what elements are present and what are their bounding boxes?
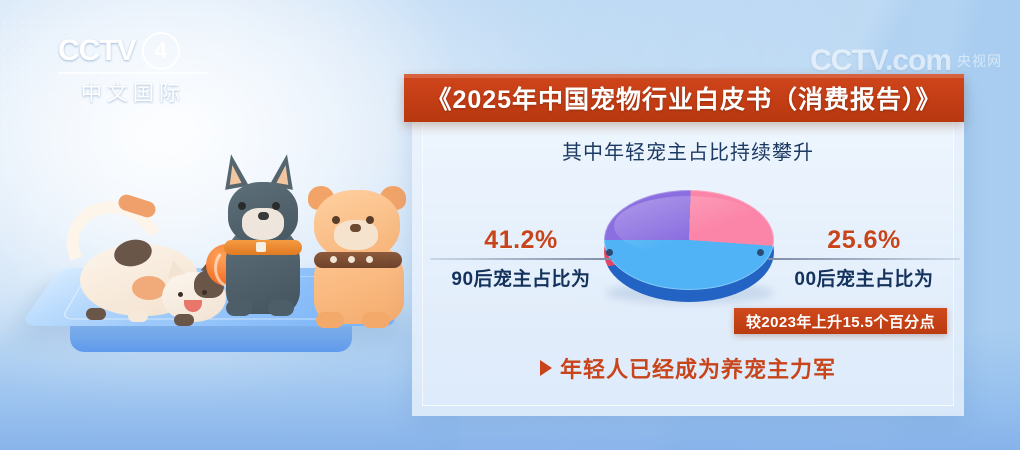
tan-dog-eye-right: [366, 216, 374, 224]
callout-left: 41.2% 90后宠主占比为: [430, 226, 612, 291]
tan-dog-collar-stud-2: [348, 256, 355, 263]
cat-eye-left: [178, 292, 183, 297]
triangle-right-icon: [540, 360, 552, 376]
grey-dog-paw-right: [268, 300, 294, 316]
leader-dot-right: [757, 249, 764, 256]
pie-top-face: [604, 190, 774, 290]
tan-dog-paw-right: [362, 312, 390, 328]
pie-chart: [604, 186, 776, 314]
callout-left-value: 41.2%: [430, 226, 612, 255]
tan-dog-eye-left: [332, 216, 340, 224]
logo-subtitle: 中文国际: [58, 77, 208, 107]
grey-dog-illustration: [210, 154, 314, 322]
logo-cctv-text: CCTV: [58, 34, 136, 68]
cat-paw-rear: [86, 308, 106, 320]
callout-right-leader-line: [768, 258, 960, 260]
grey-dog-collar-tag: [256, 242, 266, 252]
page-title: 《2025年中国宠物行业白皮书（消费报告）》: [426, 80, 941, 116]
callout-right: 25.6% 00后宠主占比为: [768, 226, 960, 291]
logo-divider: [58, 72, 208, 74]
cctv4-logo: CCTV 4 中文国际: [58, 32, 208, 102]
logo-channel-number: 4: [142, 32, 180, 70]
callout-left-label: 90后宠主占比为: [430, 264, 612, 291]
cat-side-patch: [132, 276, 166, 300]
pet-illustration: [40, 150, 390, 380]
grey-dog-eye-left: [238, 202, 246, 210]
tan-dog-collar-stud-1: [330, 256, 337, 263]
status-badge: 较2023年上升15.5个百分点: [734, 308, 947, 334]
grey-dog-paw-left: [226, 300, 252, 316]
footer-text: 年轻人已经成为养宠主力军: [560, 352, 836, 384]
tan-dog-collar: [314, 252, 402, 268]
logo-row: CCTV 4: [58, 32, 208, 70]
cat-paw-mid: [128, 310, 148, 322]
panel-subtitle: 其中年轻宠主占比持续攀升: [412, 136, 964, 165]
tan-dog-collar-stud-3: [366, 256, 373, 263]
title-bar: 《2025年中国宠物行业白皮书（消费报告）》: [404, 74, 964, 122]
footer-callout: 年轻人已经成为养宠主力军: [412, 352, 964, 384]
title-bar-highlight: [404, 74, 964, 78]
broadcast-graphic: CCTV 4 中文国际 CCTV.com 央视网: [0, 0, 1020, 450]
status-badge-text: 较2023年上升15.5个百分点: [746, 311, 935, 332]
callout-left-leader-line: [430, 258, 612, 260]
grey-dog-nose: [258, 212, 269, 220]
platform-side: [70, 324, 352, 352]
cat-eye-right: [202, 290, 207, 295]
tan-dog-nose: [350, 224, 361, 232]
callout-right-value: 25.6%: [768, 226, 960, 255]
cat-paw-front: [174, 314, 194, 326]
grey-dog-eye-right: [272, 202, 280, 210]
callout-right-label: 00后宠主占比为: [768, 264, 960, 291]
tan-dog-illustration: [302, 176, 414, 326]
tan-dog-paw-left: [316, 312, 344, 328]
